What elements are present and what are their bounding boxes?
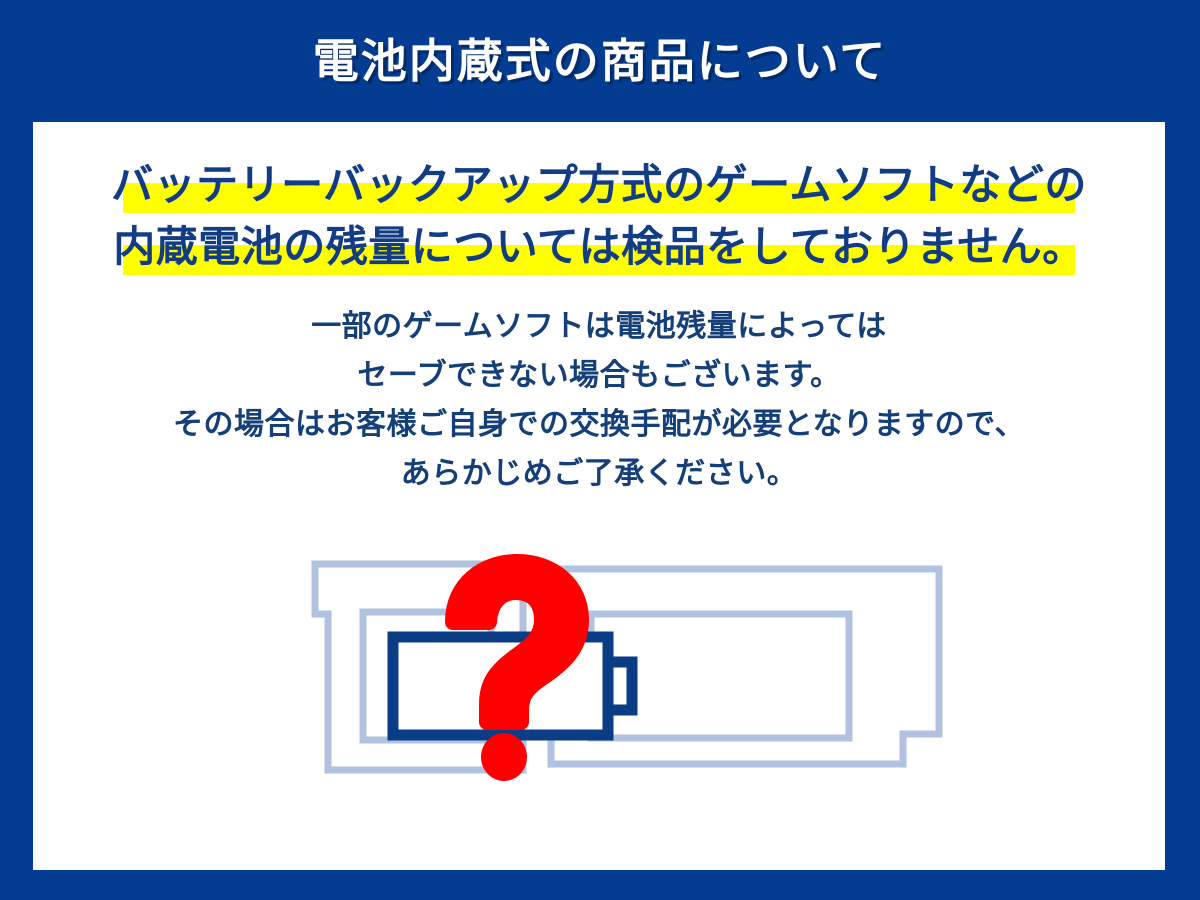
body-line: セーブできない場合もございます。 [33, 351, 1165, 400]
headline-text: 内蔵電池の残量については検品をしておりません。 [113, 216, 1085, 278]
body-line: 一部のゲームソフトは電池残量によっては [33, 302, 1165, 351]
headline-line: 内蔵電池の残量については検品をしておりません。 [33, 216, 1165, 278]
headline-text: バッテリーバックアップ方式のゲームソフトなどの [111, 154, 1087, 216]
content-panel: バッテリーバックアップ方式のゲームソフトなどの 内蔵電池の残量については検品をし… [33, 122, 1165, 870]
page-title: 電池内蔵式の商品について [313, 38, 888, 84]
illustration [301, 552, 961, 782]
headline-block: バッテリーバックアップ方式のゲームソフトなどの 内蔵電池の残量については検品をし… [33, 154, 1165, 278]
body-paragraph: 一部のゲームソフトは電池残量によっては セーブできない場合もございます。 その場… [33, 302, 1165, 498]
body-line: あらかじめご了承ください。 [33, 449, 1165, 498]
notice-poster: 電池内蔵式の商品について バッテリーバックアップ方式のゲームソフトなどの 内蔵電… [0, 0, 1200, 900]
title-bar: 電池内蔵式の商品について [0, 0, 1200, 122]
headline-line: バッテリーバックアップ方式のゲームソフトなどの [33, 154, 1165, 216]
body-line: その場合はお客様ご自身での交換手配が必要となりますので、 [33, 400, 1165, 449]
